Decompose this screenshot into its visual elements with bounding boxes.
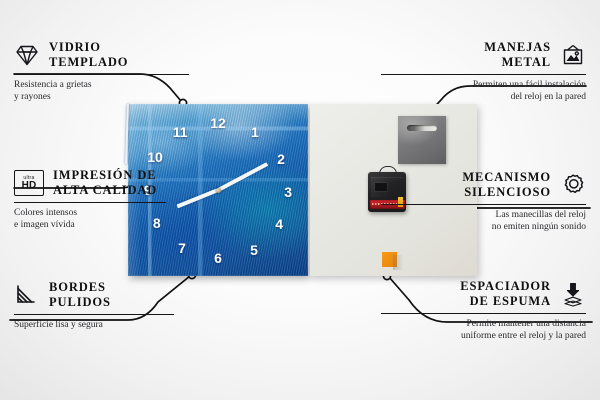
ultra-hd-badge-icon: ultra HD [14,170,44,196]
feature-title: IMPRESIÓN DE ALTA CALIDAD [53,168,157,199]
feature-description: Colores intensos e imagen vívida [14,207,219,232]
feature-description: Resistencia a grietas y rayones [14,79,219,104]
clock-numeral-11: 11 [173,125,188,139]
feature-manejas-metal: MANEJAS METAL Permiten una fácil instala… [381,40,586,104]
feature-heading: ESPACIADOR DE ESPUMA [381,279,586,310]
feature-heading: MECANISMO SILENCIOSO [381,170,586,201]
feature-title: VIDRIO TEMPLADO [49,40,128,71]
clock-numeral-1: 1 [251,125,259,139]
feature-title: ESPACIADOR DE ESPUMA [460,279,551,310]
feature-mecanismo-silencioso: MECANISMO SILENCIOSO Las manecillas del … [381,170,586,234]
clock-numeral-10: 10 [147,150,163,164]
diamond-icon [14,42,40,68]
clock-numeral-4: 4 [275,217,283,231]
foam-spacer-pad [382,252,397,267]
hd-badge-hd-text: HD [22,181,37,191]
feature-divider [14,202,166,203]
clock-numeral-5: 5 [250,243,258,257]
feature-title: MANEJAS METAL [484,40,551,71]
clock-numeral-6: 6 [214,251,222,265]
feature-description: Las manecillas del reloj no emiten ningú… [381,209,586,234]
feature-description: Permite mantener una distancia uniforme … [381,318,586,343]
feature-divider [14,314,174,315]
feature-description: Superficie lisa y segura [14,319,219,332]
clock-numeral-3: 3 [284,185,292,199]
feature-bordes-pulidos: BORDES PULIDOS Superficie lisa y segura [14,280,219,331]
feature-divider [381,74,586,75]
feature-espaciador-de-espuma: ESPACIADOR DE ESPUMA Permite mantener un… [381,279,586,343]
feature-heading: MANEJAS METAL [381,40,586,71]
feature-heading: VIDRIO TEMPLADO [14,40,219,71]
feature-divider [14,74,189,75]
arrow-down-onto-layers-icon [560,281,586,307]
picture-frame-hanger-icon [560,42,586,68]
metal-hanger-plate [398,116,446,164]
feature-title: BORDES PULIDOS [49,280,111,311]
clock-numeral-7: 7 [178,241,186,255]
feature-impresion-alta-calidad: ultra HD IMPRESIÓN DE ALTA CALIDAD Color… [14,168,219,232]
clock-numeral-12: 12 [210,116,226,130]
feature-description: Permiten una fácil instalación del reloj… [381,79,586,104]
feature-title: MECANISMO SILENCIOSO [462,170,551,201]
feature-vidrio-templado: VIDRIO TEMPLADO Resistencia a grietas y … [14,40,219,104]
feature-heading: BORDES PULIDOS [14,280,219,311]
clock-numeral-2: 2 [277,152,285,166]
feature-divider [381,204,586,205]
gear-icon [560,172,586,198]
infographic-canvas: 12 1 2 3 4 5 6 7 8 9 10 11 [0,0,600,400]
polished-edges-icon [14,282,40,308]
feature-divider [381,313,586,314]
hanger-keyhole-slot [407,125,437,131]
feature-heading: ultra HD IMPRESIÓN DE ALTA CALIDAD [14,168,219,199]
